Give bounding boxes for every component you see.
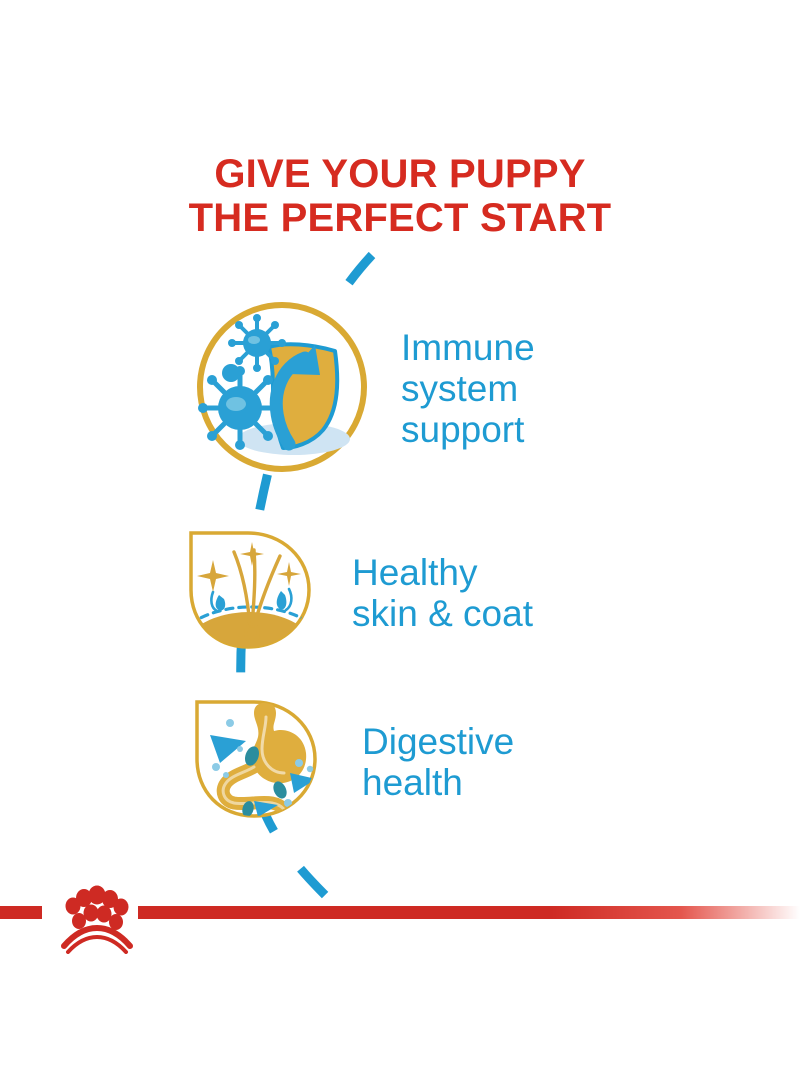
benefit-item-skin[interactable]: Healthy skin & coat bbox=[186, 528, 533, 657]
hair-follicle-icon bbox=[186, 528, 316, 657]
footer-brand-bar bbox=[0, 880, 800, 970]
virus-dot bbox=[222, 364, 240, 382]
footer-rule-right bbox=[138, 906, 800, 919]
benefit-label-digest: Digestive health bbox=[362, 721, 514, 803]
benefits-page: GIVE YOUR PUPPY THE PERFECT START bbox=[0, 0, 800, 1091]
virus-small bbox=[228, 314, 286, 372]
virus-large bbox=[198, 366, 282, 450]
royal-canin-crown-icon bbox=[46, 880, 138, 954]
benefit-label-skin: Healthy skin & coat bbox=[352, 552, 533, 634]
benefit-item-digest[interactable]: Digestive health bbox=[192, 697, 514, 826]
page-title: GIVE YOUR PUPPY THE PERFECT START bbox=[0, 152, 800, 240]
stomach-intestine-icon bbox=[192, 697, 322, 826]
benefit-label-immune: Immune system support bbox=[401, 327, 535, 450]
page-title-line-1: GIVE YOUR PUPPY bbox=[0, 152, 800, 196]
benefit-item-immune[interactable]: Immune system support bbox=[193, 298, 535, 481]
footer-rule-left bbox=[0, 906, 42, 919]
shield-virus-icon bbox=[193, 298, 371, 481]
page-title-line-2: THE PERFECT START bbox=[0, 196, 800, 240]
